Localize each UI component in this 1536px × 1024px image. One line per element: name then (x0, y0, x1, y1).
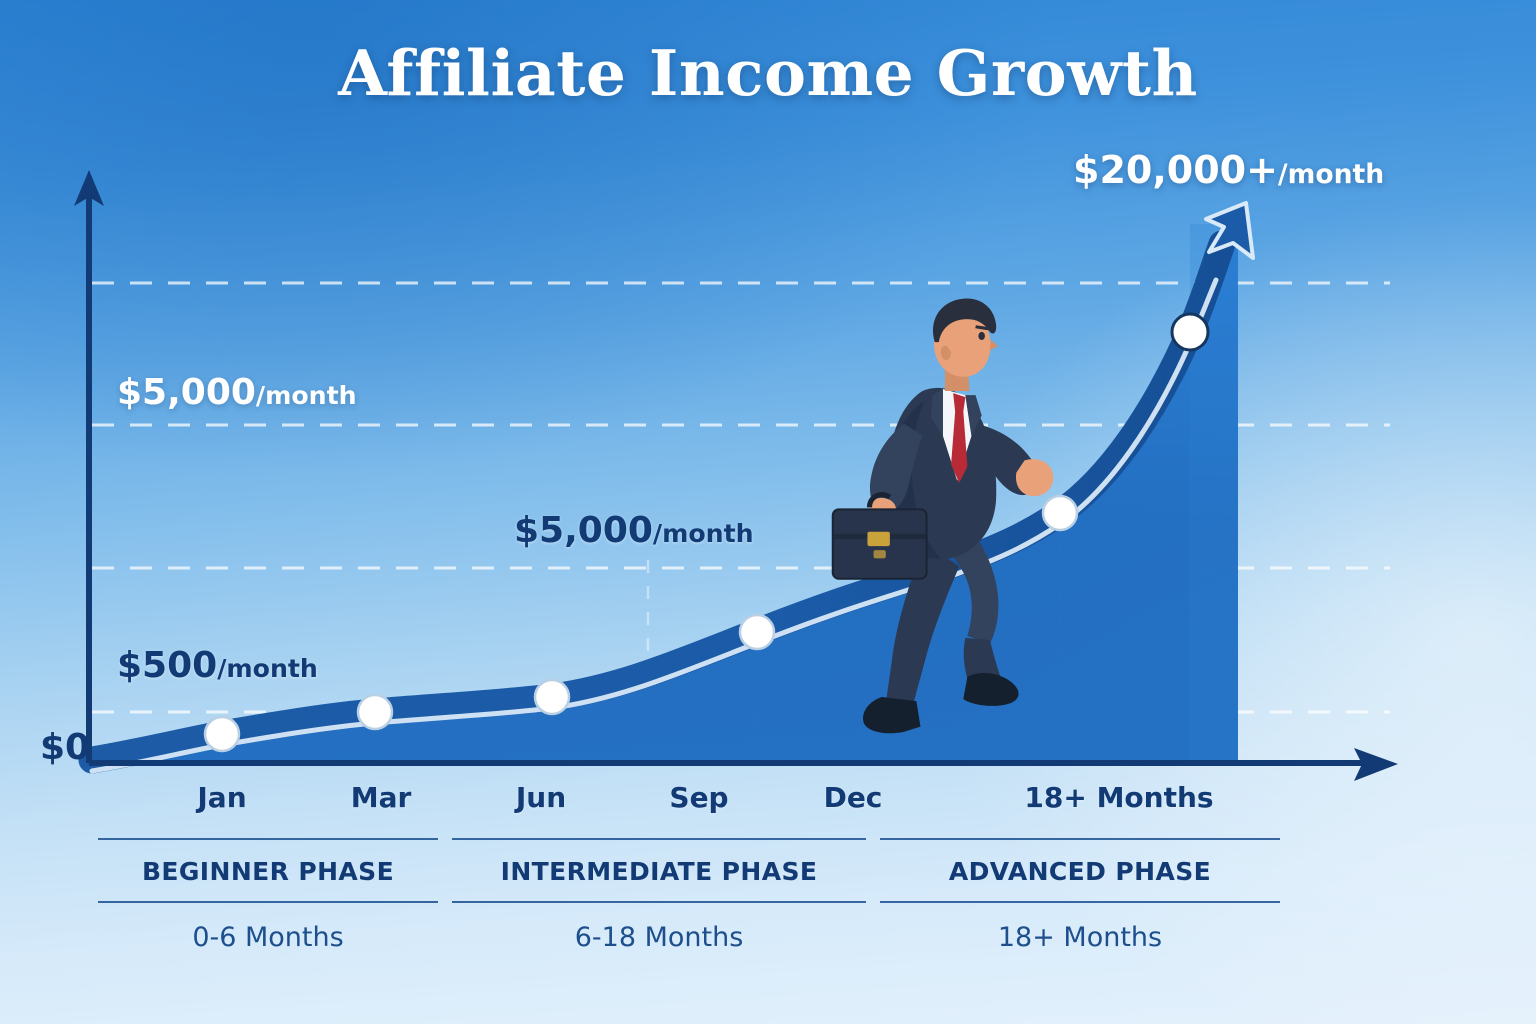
figure-front-shoe (963, 673, 1018, 706)
annotation-lower-left: $500/month (117, 645, 318, 686)
annotation-upper-left-unit: /month (256, 381, 357, 410)
x-tick-jan: Jan (197, 781, 246, 814)
phase-advanced-label: ADVANCED PHASE (880, 840, 1280, 901)
annotation-upper-left: $5,000/month (117, 372, 357, 413)
x-tick-dec: Dec (824, 781, 883, 814)
page-title: Affiliate Income Growth (0, 36, 1536, 110)
x-tick-sep: Sep (669, 781, 728, 814)
infographic-canvas: Affiliate Income Growth $20,000+/month $… (0, 0, 1536, 1024)
phase-rule-bottom (452, 901, 866, 903)
annotation-upper-left-amount: $5,000 (117, 372, 256, 413)
figure-eye (978, 332, 985, 340)
phase-intermediate: INTERMEDIATE PHASE 6-18 Months (452, 838, 866, 953)
figure-nose (990, 340, 998, 350)
annotation-top-right-unit: /month (1278, 159, 1384, 190)
annotation-middle-amount: $5,000 (514, 510, 653, 551)
phase-advanced: ADVANCED PHASE 18+ Months (880, 838, 1280, 953)
annotation-top-right: $20,000+/month (1073, 148, 1384, 192)
annotation-top-right-amount: $20,000+ (1073, 148, 1278, 192)
annotation-lower-left-amount: $500 (117, 645, 217, 686)
annotation-middle-unit: /month (653, 519, 754, 548)
phase-beginner-label: BEGINNER PHASE (98, 840, 438, 901)
phase-intermediate-label: INTERMEDIATE PHASE (452, 840, 866, 901)
phase-beginner-duration: 0-6 Months (98, 903, 438, 953)
phase-beginner: BEGINNER PHASE 0-6 Months (98, 838, 438, 953)
phase-advanced-duration: 18+ Months (880, 903, 1280, 953)
annotation-middle: $5,000/month (514, 510, 754, 551)
phase-rule-top (98, 838, 438, 840)
y-axis-zero-label: $0 (40, 727, 90, 768)
phase-rule-top (452, 838, 866, 840)
annotation-lower-left-unit: /month (217, 654, 318, 683)
x-tick-jun: Jun (516, 781, 566, 814)
figure-back-shoe (863, 697, 920, 733)
x-tick-mar: Mar (351, 781, 412, 814)
phase-rule-top (880, 838, 1280, 840)
phase-rule-bottom (98, 901, 438, 903)
x-tick-18months: 18+ Months (1024, 781, 1213, 814)
phase-rule-bottom (880, 901, 1280, 903)
phase-intermediate-duration: 6-18 Months (452, 903, 866, 953)
